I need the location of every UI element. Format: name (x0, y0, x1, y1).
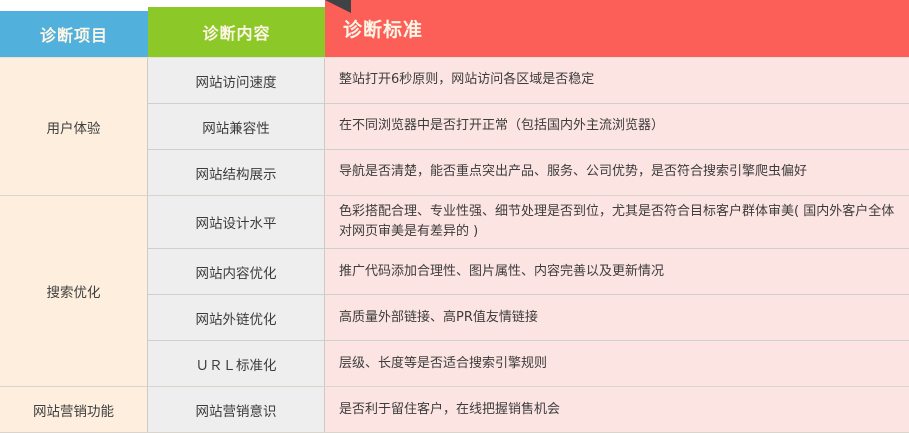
diagnosis-standard-cell: 推广代码添加合理性、图片属性、内容完善以及更新情况 (325, 249, 909, 294)
diagnosis-item-cell: ＵＲＬ标准化 (148, 341, 325, 386)
table-row: 网站营销意识是否利于留住客户，在线把握销售机会 (148, 387, 909, 432)
table-row: 网站内容优化推广代码添加合理性、图片属性、内容完善以及更新情况 (148, 249, 909, 295)
table-row: 网站设计水平色彩搭配合理、专业性强、细节处理是否到位，尤其是否符合目标客户群体审… (148, 196, 909, 249)
standard-text: 导航是否清楚，能否重点突出产品、服务、公司优势，是否符合搜索引擎爬虫偏好 (339, 162, 807, 182)
table-header: 诊断项目 诊断内容 诊断标准 (0, 0, 909, 57)
diagnosis-standard-table: 诊断项目 诊断内容 诊断标准 用户体验网站访问速度整站打开6秒原则，网站访问各区… (0, 0, 909, 418)
diagnosis-standard-cell: 层级、长度等是否适合搜索引擎规则 (325, 341, 909, 386)
ribbon-fold-corner (325, 0, 351, 13)
diagnosis-standard-cell: 是否利于留住客户，在线把握销售机会 (325, 387, 909, 432)
table-row: ＵＲＬ标准化层级、长度等是否适合搜索引擎规则 (148, 341, 909, 386)
diagnosis-item-cell: 网站兼容性 (148, 104, 325, 149)
diagnosis-standard-cell: 色彩搭配合理、专业性强、细节处理是否到位，尤其是否符合目标客户群体审美( 国内外… (325, 196, 909, 248)
standard-text: 在不同浏览器中是否打开正常（包括国内外主流浏览器） (339, 116, 664, 136)
diagnosis-item-cell: 网站营销意识 (148, 387, 325, 432)
section-rows: 网站营销意识是否利于留住客户，在线把握销售机会 (148, 387, 909, 432)
table-section: 用户体验网站访问速度整站打开6秒原则，网站访问各区域是否稳定网站兼容性在不同浏览… (0, 57, 909, 196)
diagnosis-standard-cell: 在不同浏览器中是否打开正常（包括国内外主流浏览器） (325, 104, 909, 149)
diagnosis-standard-cell: 高质量外部链接、高PR值友情链接 (325, 295, 909, 340)
category-cell: 搜索优化 (0, 196, 148, 386)
header-column-item: 诊断项目 (0, 11, 148, 57)
table-section: 网站营销功能网站营销意识是否利于留住客户，在线把握销售机会 (0, 387, 909, 433)
table-row: 网站结构展示导航是否清楚，能否重点突出产品、服务、公司优势，是否符合搜索引擎爬虫… (148, 150, 909, 195)
table-row: 网站访问速度整站打开6秒原则，网站访问各区域是否稳定 (148, 58, 909, 104)
standard-text: 层级、长度等是否适合搜索引擎规则 (339, 354, 547, 374)
diagnosis-standard-cell: 导航是否清楚，能否重点突出产品、服务、公司优势，是否符合搜索引擎爬虫偏好 (325, 150, 909, 195)
header-column-standard: 诊断标准 (325, 0, 909, 57)
standard-text: 推广代码添加合理性、图片属性、内容完善以及更新情况 (339, 262, 664, 282)
section-rows: 网站访问速度整站打开6秒原则，网站访问各区域是否稳定网站兼容性在不同浏览器中是否… (148, 58, 909, 195)
diagnosis-item-cell: 网站内容优化 (148, 249, 325, 294)
table-row: 网站外链优化高质量外部链接、高PR值友情链接 (148, 295, 909, 341)
category-cell: 用户体验 (0, 58, 148, 195)
standard-text: 色彩搭配合理、专业性强、细节处理是否到位，尤其是否符合目标客户群体审美( 国内外… (339, 202, 897, 242)
diagnosis-item-cell: 网站访问速度 (148, 58, 325, 103)
category-cell: 网站营销功能 (0, 387, 148, 432)
standard-text: 整站打开6秒原则，网站访问各区域是否稳定 (339, 70, 594, 90)
section-rows: 网站设计水平色彩搭配合理、专业性强、细节处理是否到位，尤其是否符合目标客户群体审… (148, 196, 909, 386)
standard-text: 高质量外部链接、高PR值友情链接 (339, 308, 538, 328)
diagnosis-item-cell: 网站外链优化 (148, 295, 325, 340)
table-section: 搜索优化网站设计水平色彩搭配合理、专业性强、细节处理是否到位，尤其是否符合目标客… (0, 196, 909, 387)
header-column-content: 诊断内容 (148, 7, 325, 57)
diagnosis-standard-cell: 整站打开6秒原则，网站访问各区域是否稳定 (325, 58, 909, 103)
table-row: 网站兼容性在不同浏览器中是否打开正常（包括国内外主流浏览器） (148, 104, 909, 150)
diagnosis-item-cell: 网站设计水平 (148, 196, 325, 248)
diagnosis-item-cell: 网站结构展示 (148, 150, 325, 195)
table-body: 用户体验网站访问速度整站打开6秒原则，网站访问各区域是否稳定网站兼容性在不同浏览… (0, 57, 909, 433)
standard-text: 是否利于留住客户，在线把握销售机会 (339, 400, 560, 420)
